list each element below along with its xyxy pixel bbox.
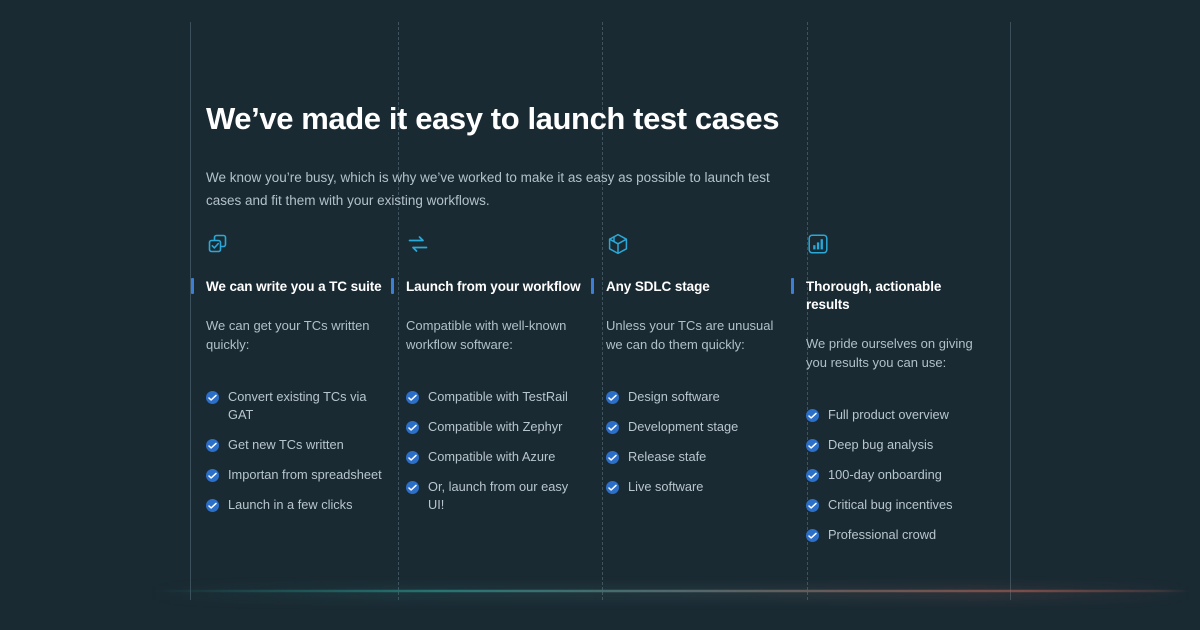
list-item: Importan from spreadsheet: [206, 466, 382, 484]
check-circle-icon: [206, 499, 219, 512]
feature-heading-wrap-4: Thorough, actionable results: [806, 278, 982, 314]
accent-bar: [791, 278, 794, 294]
list-item: Compatible with Azure: [406, 448, 582, 466]
list-item-label: Get new TCs written: [228, 436, 382, 454]
accent-bar: [591, 278, 594, 294]
list-item-label: Compatible with Azure: [428, 448, 582, 466]
check-circle-icon: [606, 391, 619, 404]
feature-description: Compatible with well-known workflow soft…: [406, 316, 582, 354]
check-circle-icon: [406, 481, 419, 494]
feature-checklist-1: Convert existing TCs via GAT Get new TCs…: [206, 388, 382, 514]
check-circle-icon: [806, 439, 819, 452]
check-circle-icon: [806, 499, 819, 512]
feature-heading: We can write you a TC suite: [206, 279, 382, 294]
feature-checklist-3: Design software Development stage Releas…: [606, 388, 782, 496]
feature-description: We can get your TCs written quickly:: [206, 316, 382, 354]
feature-heading: Thorough, actionable results: [806, 279, 941, 312]
list-item-label: Release stafe: [628, 448, 782, 466]
check-circle-icon: [606, 451, 619, 464]
page-title: We’ve made it easy to launch test cases: [206, 100, 906, 138]
check-circle-icon: [406, 421, 419, 434]
exchange-arrows-icon: [406, 232, 582, 258]
check-circle-icon: [806, 529, 819, 542]
list-item: Compatible with TestRail: [406, 388, 582, 406]
list-item-label: Development stage: [628, 418, 782, 436]
list-item: Convert existing TCs via GAT: [206, 388, 382, 424]
check-circle-icon: [606, 481, 619, 494]
list-item-label: Launch in a few clicks: [228, 496, 382, 514]
check-circle-icon: [806, 409, 819, 422]
list-item: Or, launch from our easy UI!: [406, 478, 582, 514]
feature-column-2: Launch from your workflow Compatible wit…: [406, 232, 606, 556]
check-circle-icon: [206, 391, 219, 404]
check-circle-icon: [606, 421, 619, 434]
bottom-glow-line: [150, 590, 1190, 592]
check-circle-icon: [206, 469, 219, 482]
list-item: 100-day onboarding: [806, 466, 982, 484]
feature-heading-wrap-1: We can write you a TC suite: [206, 278, 382, 296]
bottom-glow-halo: [150, 586, 1190, 600]
list-item: Development stage: [606, 418, 782, 436]
list-item-label: Professional crowd: [828, 526, 982, 544]
list-item-label: Critical bug incentives: [828, 496, 982, 514]
list-item: Get new TCs written: [206, 436, 382, 454]
list-item: Full product overview: [806, 406, 982, 424]
feature-heading-wrap-2: Launch from your workflow: [406, 278, 582, 296]
feature-description: Unless your TCs are unusual we can do th…: [606, 316, 782, 354]
list-item: Live software: [606, 478, 782, 496]
list-item-label: Compatible with Zephyr: [428, 418, 582, 436]
list-item-label: Design software: [628, 388, 782, 406]
accent-bar: [391, 278, 394, 294]
list-item-label: Live software: [628, 478, 782, 496]
list-item-label: Deep bug analysis: [828, 436, 982, 454]
check-circle-icon: [806, 469, 819, 482]
list-item: Professional crowd: [806, 526, 982, 544]
list-item: Launch in a few clicks: [206, 496, 382, 514]
check-circle-icon: [406, 451, 419, 464]
feature-column-4: Thorough, actionable results We pride ou…: [806, 232, 1006, 556]
list-item: Critical bug incentives: [806, 496, 982, 514]
list-item-label: Importan from spreadsheet: [228, 466, 382, 484]
check-circle-icon: [406, 391, 419, 404]
feature-checklist-2: Compatible with TestRail Compatible with…: [406, 388, 582, 514]
accent-bar: [191, 278, 194, 294]
feature-heading: Launch from your workflow: [406, 279, 581, 294]
list-item-label: Convert existing TCs via GAT: [228, 388, 382, 424]
feature-heading: Any SDLC stage: [606, 279, 710, 294]
page-subtitle: We know you’re busy, which is why we’ve …: [206, 166, 788, 212]
bar-chart-icon: [806, 232, 982, 258]
list-item: Design software: [606, 388, 782, 406]
list-item-label: Compatible with TestRail: [428, 388, 582, 406]
list-item: Release stafe: [606, 448, 782, 466]
feature-checklist-4: Full product overview Deep bug analysis …: [806, 406, 982, 544]
copy-check-icon: [206, 232, 382, 258]
feature-columns: We can write you a TC suite We can get y…: [206, 232, 1006, 556]
feature-heading-wrap-3: Any SDLC stage: [606, 278, 782, 296]
list-item: Compatible with Zephyr: [406, 418, 582, 436]
cube-box-icon: [606, 232, 782, 258]
list-item-label: 100-day onboarding: [828, 466, 982, 484]
list-item: Deep bug analysis: [806, 436, 982, 454]
feature-description: We pride ourselves on giving you results…: [806, 334, 982, 372]
list-item-label: Or, launch from our easy UI!: [428, 478, 582, 514]
feature-column-1: We can write you a TC suite We can get y…: [206, 232, 406, 556]
check-circle-icon: [206, 439, 219, 452]
list-item-label: Full product overview: [828, 406, 982, 424]
feature-column-3: Any SDLC stage Unless your TCs are unusu…: [606, 232, 806, 556]
